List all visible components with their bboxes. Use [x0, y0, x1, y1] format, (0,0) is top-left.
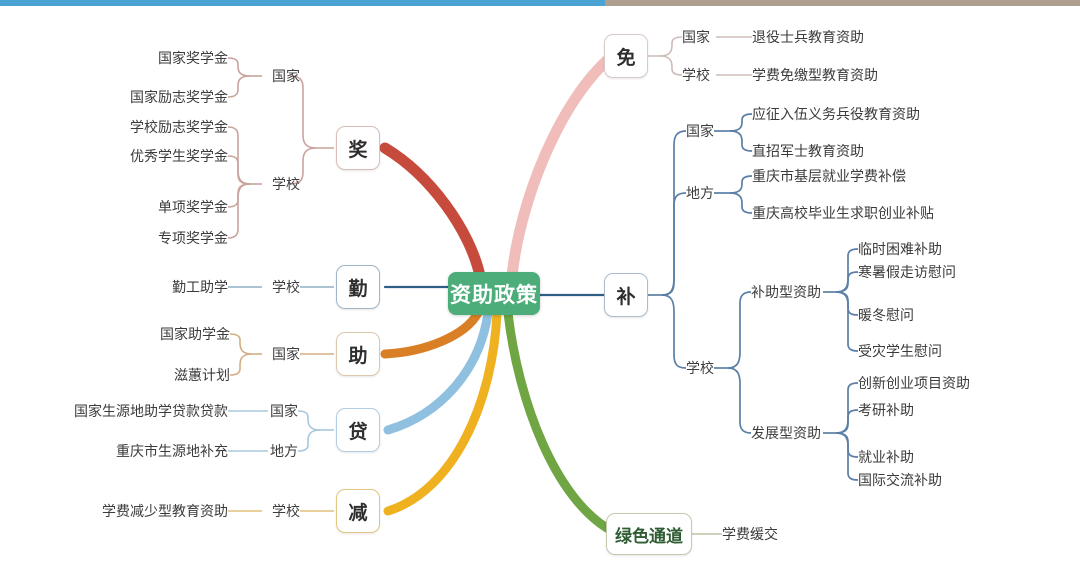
subnode-bu-xuexiao[interactable]: 学校 — [686, 361, 714, 375]
wire-sub2-1 — [836, 383, 858, 433]
leaf-bu-sub1-4[interactable]: 受灾学生慰问 — [858, 344, 942, 358]
category-node-zhu-label: 助 — [348, 341, 367, 368]
hub-curve-zhu — [385, 313, 478, 354]
subnode-mian-guojia[interactable]: 国家 — [682, 30, 710, 44]
wire-sub1-4 — [836, 292, 858, 351]
subnode-bu-subsidy-type[interactable]: 补助型资助 — [751, 285, 821, 299]
subnode-mian-xuexiao[interactable]: 学校 — [682, 68, 710, 82]
subnode-dai-difang[interactable]: 地方 — [270, 444, 298, 458]
category-node-qin[interactable]: 勤 — [336, 265, 380, 309]
wire-mian-to-guojia — [660, 37, 682, 56]
subnode-bu-guojia[interactable]: 国家 — [686, 124, 714, 138]
wire-jiang-x2 — [228, 156, 250, 184]
category-node-dai[interactable]: 贷 — [336, 408, 380, 452]
wire-bu-to-sub2 — [728, 368, 751, 433]
leaf-jian-1[interactable]: 学费减少型教育资助 — [102, 504, 228, 518]
wire-sub1-3 — [836, 292, 858, 315]
leaf-qin-1[interactable]: 勤工助学 — [172, 280, 228, 294]
subnode-zhu-guojia[interactable]: 国家 — [272, 347, 300, 361]
wire-bu-to-sub1 — [728, 292, 751, 368]
wire-mian-to-xuexiao — [660, 56, 682, 75]
category-node-green-channel[interactable]: 绿色通道 — [606, 513, 692, 555]
wire-jiang-to-guojia — [290, 76, 316, 148]
leaf-jiang-1[interactable]: 国家奖学金 — [158, 51, 228, 65]
hub-curve-mian — [512, 56, 612, 276]
wire-dai-to-guojia — [298, 411, 320, 430]
wire-jiang-x3 — [228, 184, 250, 207]
subnode-jiang-guojia[interactable]: 国家 — [272, 69, 300, 83]
leaf-lvse-1[interactable]: 学费缓交 — [722, 527, 778, 541]
leaf-jiang-5[interactable]: 单项奖学金 — [158, 200, 228, 214]
subnode-jian-xuexiao[interactable]: 学校 — [272, 504, 300, 518]
subnode-qin-xuexiao[interactable]: 学校 — [272, 280, 300, 294]
central-node-hub[interactable]: 资助政策 — [448, 272, 540, 315]
wire-jiang-g2 — [228, 76, 250, 97]
wire-jiang-g1 — [228, 58, 250, 76]
leaf-dai-1[interactable]: 国家生源地助学贷款贷款 — [74, 404, 228, 418]
leaf-zhu-2[interactable]: 滋蕙计划 — [174, 368, 230, 382]
mindmap-canvas: 资助政策 奖 勤 助 贷 减 免 补 绿色通道 国家 学校 国家奖学金 国家励志… — [0, 0, 1080, 579]
leaf-mian-2[interactable]: 学费免缴型教育资助 — [752, 68, 878, 82]
leaf-zhu-1[interactable]: 国家助学金 — [160, 327, 230, 341]
category-node-qin-label: 勤 — [348, 274, 367, 301]
subnode-bu-difang[interactable]: 地方 — [686, 186, 714, 200]
category-node-green-channel-label: 绿色通道 — [615, 522, 683, 547]
subnode-bu-development-type[interactable]: 发展型资助 — [751, 426, 821, 440]
wire-sub2-3 — [836, 433, 858, 457]
leaf-bu-sub1-3[interactable]: 暖冬慰问 — [858, 308, 914, 322]
wire-dai-to-difang — [298, 430, 320, 451]
leaf-bu-sub1-2[interactable]: 寒暑假走访慰问 — [858, 265, 956, 279]
category-node-jiang-label: 奖 — [348, 135, 367, 162]
category-node-bu-label: 补 — [616, 282, 635, 309]
central-node-label: 资助政策 — [450, 279, 538, 309]
category-node-zhu[interactable]: 助 — [336, 332, 380, 376]
leaf-jiang-2[interactable]: 国家励志奖学金 — [130, 90, 228, 104]
category-node-mian[interactable]: 免 — [604, 34, 648, 78]
leaf-bu-sub1-1[interactable]: 临时困难补助 — [858, 242, 942, 256]
hub-curve-lvse — [508, 313, 612, 531]
subnode-dai-guojia[interactable]: 国家 — [270, 404, 298, 418]
wire-bu-to-difang — [662, 193, 686, 295]
wire-zhu-2 — [230, 354, 252, 375]
wire-bu-d2 — [730, 193, 752, 213]
leaf-bu-sub2-1[interactable]: 创新创业项目资助 — [858, 376, 970, 390]
leaf-dai-2[interactable]: 重庆市生源地补充 — [116, 444, 228, 458]
wire-zhu-1 — [230, 334, 252, 354]
category-node-jiang[interactable]: 奖 — [336, 126, 380, 170]
category-node-mian-label: 免 — [616, 43, 635, 70]
leaf-bu-sub2-2[interactable]: 考研补助 — [858, 403, 914, 417]
subnode-jiang-xuexiao[interactable]: 学校 — [272, 177, 300, 191]
wire-bu-g1 — [730, 114, 752, 131]
wire-bu-g2 — [730, 131, 752, 151]
wire-sub2-2 — [836, 410, 858, 433]
wire-bu-to-xuexiao — [662, 295, 686, 368]
leaf-jiang-6[interactable]: 专项奖学金 — [158, 231, 228, 245]
leaf-bu-1[interactable]: 应征入伍义务兵役教育资助 — [752, 107, 920, 121]
category-node-jian[interactable]: 减 — [336, 489, 380, 533]
category-node-dai-label: 贷 — [348, 417, 367, 444]
leaf-mian-1[interactable]: 退役士兵教育资助 — [752, 30, 864, 44]
category-node-bu[interactable]: 补 — [604, 273, 648, 317]
wire-jiang-x4 — [228, 184, 250, 238]
leaf-bu-3[interactable]: 重庆市基层就业学费补偿 — [752, 169, 906, 183]
leaf-jiang-3[interactable]: 学校励志奖学金 — [130, 120, 228, 134]
leaf-bu-2[interactable]: 直招军士教育资助 — [752, 144, 864, 158]
leaf-bu-4[interactable]: 重庆高校毕业生求职创业补贴 — [752, 206, 934, 220]
connector-lines — [0, 0, 1080, 579]
category-node-jian-label: 减 — [348, 498, 367, 525]
leaf-bu-sub2-3[interactable]: 就业补助 — [858, 450, 914, 464]
hub-curve-jiang — [385, 148, 480, 276]
leaf-bu-sub2-4[interactable]: 国际交流补助 — [858, 473, 942, 487]
leaf-jiang-4[interactable]: 优秀学生奖学金 — [130, 149, 228, 163]
wire-bu-d1 — [730, 176, 752, 193]
